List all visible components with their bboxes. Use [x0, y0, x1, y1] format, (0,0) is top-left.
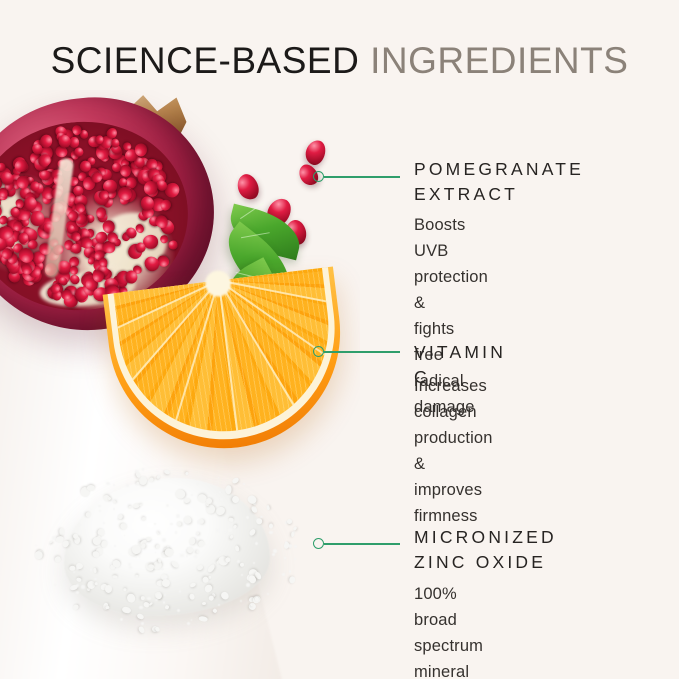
- powder-grain: [34, 551, 43, 559]
- powder-grain: [164, 469, 171, 475]
- zinc-oxide-powder-photo: [16, 440, 316, 655]
- powder-grain: [141, 596, 145, 600]
- powder-dust: [269, 531, 273, 535]
- powder-grain: [269, 524, 273, 529]
- powder-dust: [76, 584, 78, 586]
- powder-grain: [206, 505, 215, 514]
- powder-dust: [267, 593, 269, 595]
- powder-dust: [180, 554, 183, 557]
- powder-dust: [142, 468, 145, 471]
- pomegranate-aril: [0, 225, 13, 239]
- orange-segment-divider: [174, 280, 220, 425]
- powder-grain: [291, 532, 294, 537]
- powder-dust: [162, 538, 165, 541]
- powder-grain: [98, 529, 105, 536]
- powder-dust: [237, 560, 240, 563]
- powder-dust: [285, 559, 286, 560]
- powder-grain: [185, 471, 190, 476]
- powder-dust: [194, 555, 197, 558]
- powder-dust: [272, 553, 275, 556]
- powder-dust: [147, 597, 150, 600]
- powder-grain: [137, 625, 145, 633]
- powder-grain: [94, 582, 97, 585]
- powder-dust: [94, 578, 96, 580]
- powder-dust: [294, 545, 297, 548]
- powder-grain: [289, 576, 296, 584]
- powder-dust: [228, 528, 232, 532]
- powder-dust: [260, 516, 263, 519]
- powder-dust: [250, 532, 253, 535]
- powder-dust: [218, 477, 220, 479]
- callout-leader-line: [324, 176, 400, 178]
- pomegranate-aril: [40, 170, 51, 180]
- powder-grain: [48, 541, 53, 545]
- powder-dust: [197, 483, 198, 484]
- pomegranate-aril: [167, 240, 178, 250]
- ingredient-description-micronized-zinc-oxide: 100% broad spectrum mineral protection: [414, 581, 488, 679]
- title-accent: SCIENCE-BASED: [51, 40, 360, 81]
- powder-grain: [199, 615, 209, 622]
- orange-segment-divider: [218, 280, 297, 410]
- powder-dust: [166, 504, 169, 507]
- powder-dust: [163, 598, 164, 599]
- powder-grain: [155, 626, 161, 632]
- powder-dust: [81, 585, 84, 588]
- powder-grain: [139, 503, 143, 506]
- powder-dust: [159, 567, 161, 569]
- powder-dust: [154, 523, 156, 525]
- powder-dust: [273, 549, 277, 553]
- powder-grain: [206, 498, 212, 504]
- powder-dust: [113, 484, 115, 486]
- pomegranate-aril: [125, 270, 137, 283]
- powder-grain: [112, 575, 117, 579]
- powder-dust: [129, 566, 132, 569]
- powder-dust: [106, 482, 109, 485]
- powder-dust: [186, 555, 188, 557]
- ingredients-infographic: SCIENCE-BASED INGREDIENTS POMEGRANATE EX…: [0, 0, 679, 679]
- powder-dust: [243, 483, 245, 485]
- powder-dust: [240, 600, 243, 603]
- powder-dust: [285, 541, 287, 543]
- powder-dust: [284, 557, 286, 559]
- powder-dust: [54, 584, 56, 586]
- powder-dust: [170, 523, 172, 525]
- powder-dust: [135, 556, 137, 558]
- powder-grain: [59, 528, 65, 536]
- powder-dust: [139, 556, 141, 558]
- powder-dust: [141, 622, 144, 625]
- ingredient-name-pomegranate-extract: POMEGRANATE EXTRACT: [414, 157, 584, 208]
- powder-dust: [187, 622, 191, 626]
- powder-grain: [128, 505, 132, 509]
- pomegranate-seed: [234, 171, 262, 203]
- orange-segment-divider: [218, 280, 238, 430]
- powder-dust: [136, 470, 139, 473]
- powder-dust: [103, 583, 104, 584]
- powder-dust: [139, 606, 143, 610]
- powder-dust: [35, 545, 37, 547]
- page-title: SCIENCE-BASED INGREDIENTS: [0, 42, 679, 79]
- powder-grain: [87, 485, 95, 491]
- powder-dust: [120, 618, 123, 621]
- callout-leader-line: [324, 543, 400, 545]
- pomegranate-aril: [135, 143, 147, 156]
- powder-grain: [293, 526, 298, 531]
- powder-dust: [179, 590, 182, 593]
- powder-dust: [219, 551, 221, 553]
- pomegranate-aril: [92, 269, 104, 282]
- title-muted: INGREDIENTS: [359, 40, 628, 81]
- powder-dust: [99, 510, 101, 512]
- powder-dust: [76, 591, 79, 594]
- callout-marker-icon: [313, 346, 324, 357]
- pomegranate-aril: [96, 207, 106, 218]
- powder-dust: [294, 558, 296, 560]
- powder-grain: [256, 517, 262, 524]
- powder-grain: [266, 505, 270, 510]
- orange-wedge-photo: [103, 266, 354, 461]
- callout-marker-icon: [313, 171, 324, 182]
- powder-dust: [92, 582, 93, 583]
- powder-grain: [72, 603, 80, 611]
- powder-grain: [231, 476, 240, 484]
- ingredient-name-micronized-zinc-oxide: MICRONIZED ZINC OXIDE: [414, 525, 557, 576]
- ingredient-description-vitamin-c: Increases collagen production & improves…: [414, 373, 493, 529]
- powder-dust: [241, 574, 243, 576]
- powder-grain: [254, 597, 259, 602]
- powder-dust: [218, 604, 220, 606]
- callout-marker-icon: [313, 538, 324, 549]
- callout-leader-line: [324, 351, 400, 353]
- powder-grain: [54, 556, 62, 564]
- powder-dust: [191, 619, 193, 621]
- powder-dust: [98, 505, 100, 507]
- product-photography-stage: [0, 90, 360, 679]
- powder-dust: [114, 545, 116, 547]
- powder-dust: [197, 520, 201, 524]
- powder-grain: [212, 608, 218, 614]
- powder-grain: [287, 518, 293, 523]
- powder-dust: [246, 583, 250, 587]
- pomegranate-seed: [303, 138, 329, 168]
- powder-dust: [288, 544, 292, 548]
- orange-segment-divider: [119, 280, 220, 395]
- powder-dust: [163, 601, 165, 603]
- powder-dust: [246, 516, 249, 519]
- orange-flesh: [114, 268, 341, 443]
- powder-grain: [196, 550, 199, 553]
- powder-dust: [289, 570, 292, 573]
- powder-dust: [282, 573, 284, 575]
